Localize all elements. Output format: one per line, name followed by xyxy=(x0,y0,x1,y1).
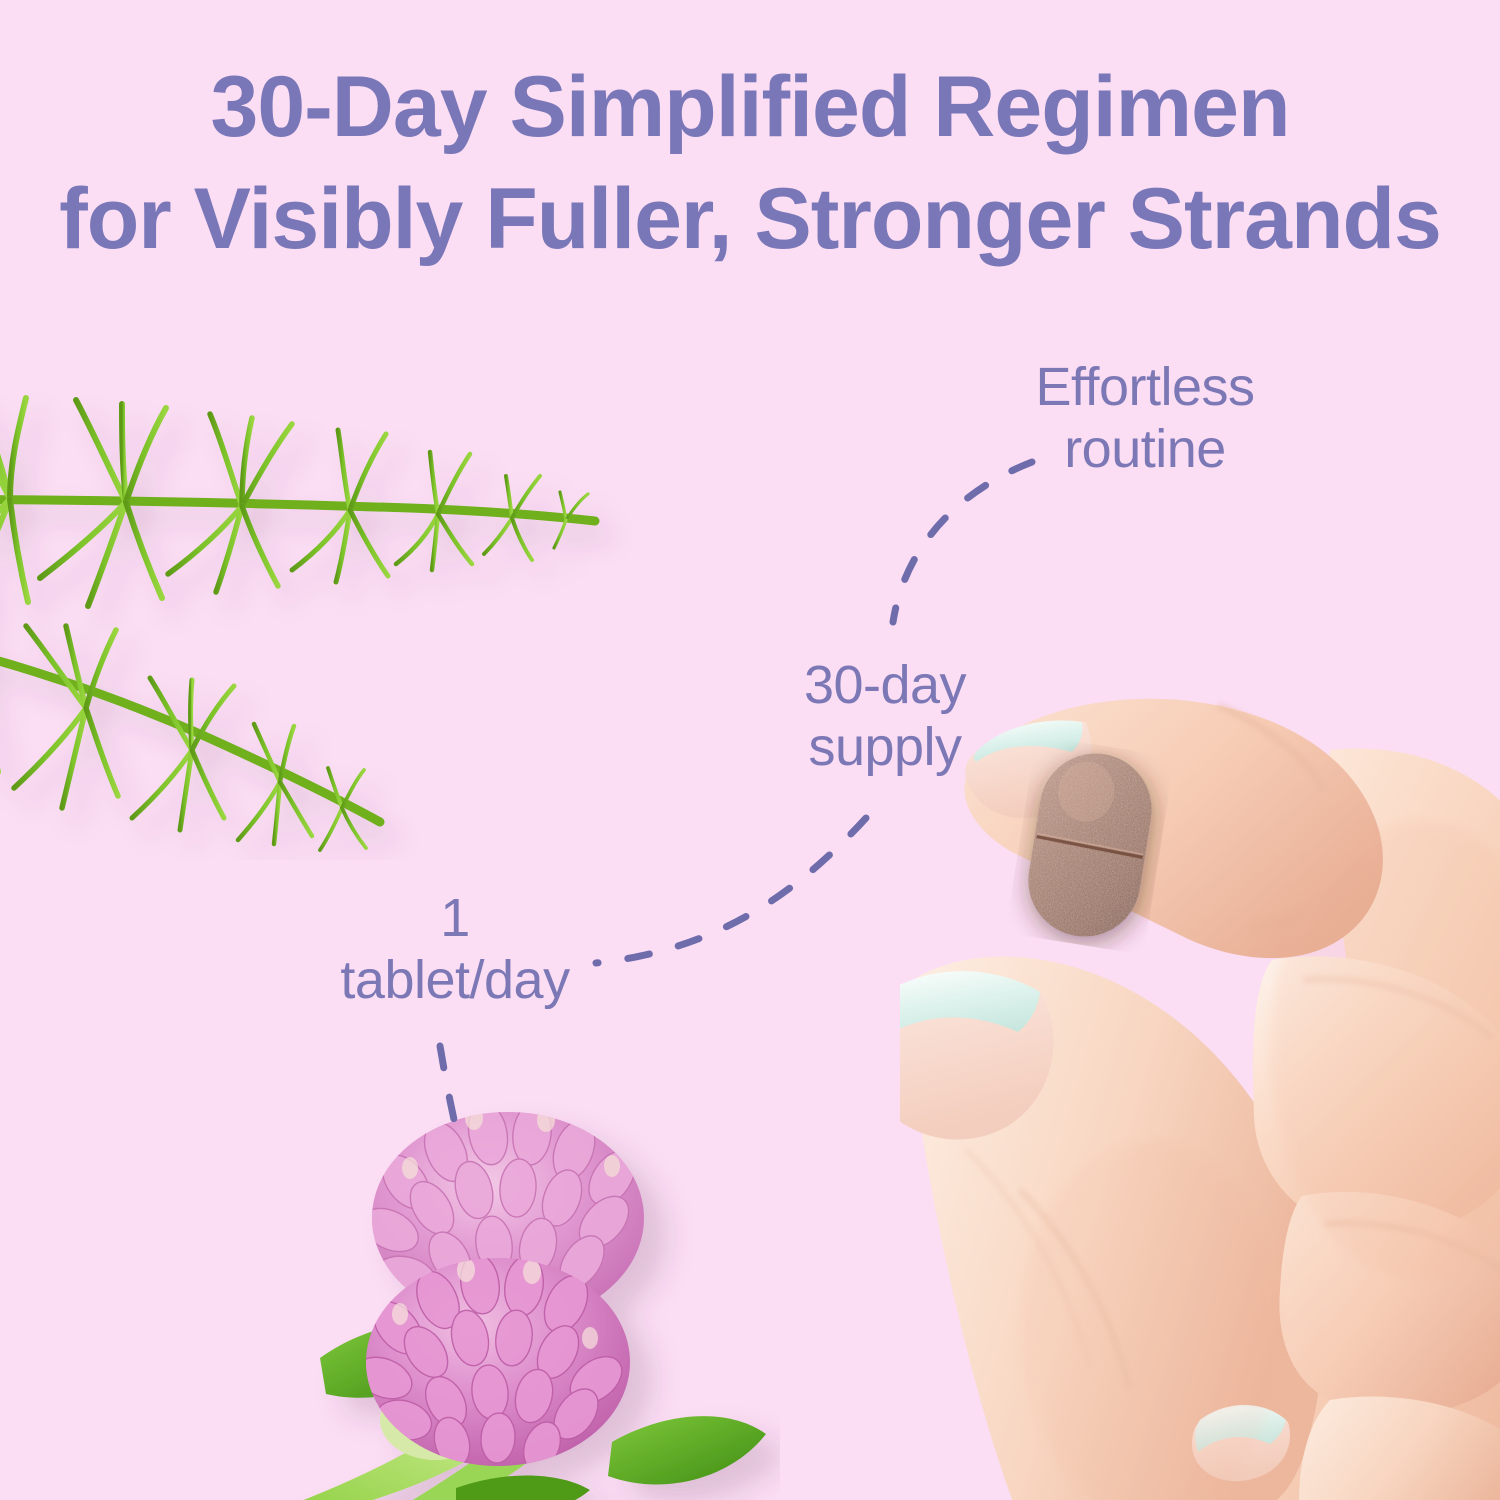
callout-effortless-routine: Effortless routine xyxy=(920,357,1370,480)
connector-effortless xyxy=(893,462,1032,622)
red-clover-flower-image xyxy=(260,1090,780,1500)
horsetail-plant-image xyxy=(0,330,680,860)
page-title: 30-Day Simplified Regimen for Visibly Fu… xyxy=(0,52,1500,276)
callout-1-tablet-per-day: 1 tablet/day xyxy=(245,888,665,1011)
callout-30-day-supply: 30-day supply xyxy=(700,655,1070,778)
page-title-line-1: 30-Day Simplified Regimen xyxy=(0,52,1500,164)
page-title-line-2: for Visibly Fuller, Stronger Strands xyxy=(0,164,1500,276)
product-infographic: 30-Day Simplified Regimen for Visibly Fu… xyxy=(0,0,1500,1500)
